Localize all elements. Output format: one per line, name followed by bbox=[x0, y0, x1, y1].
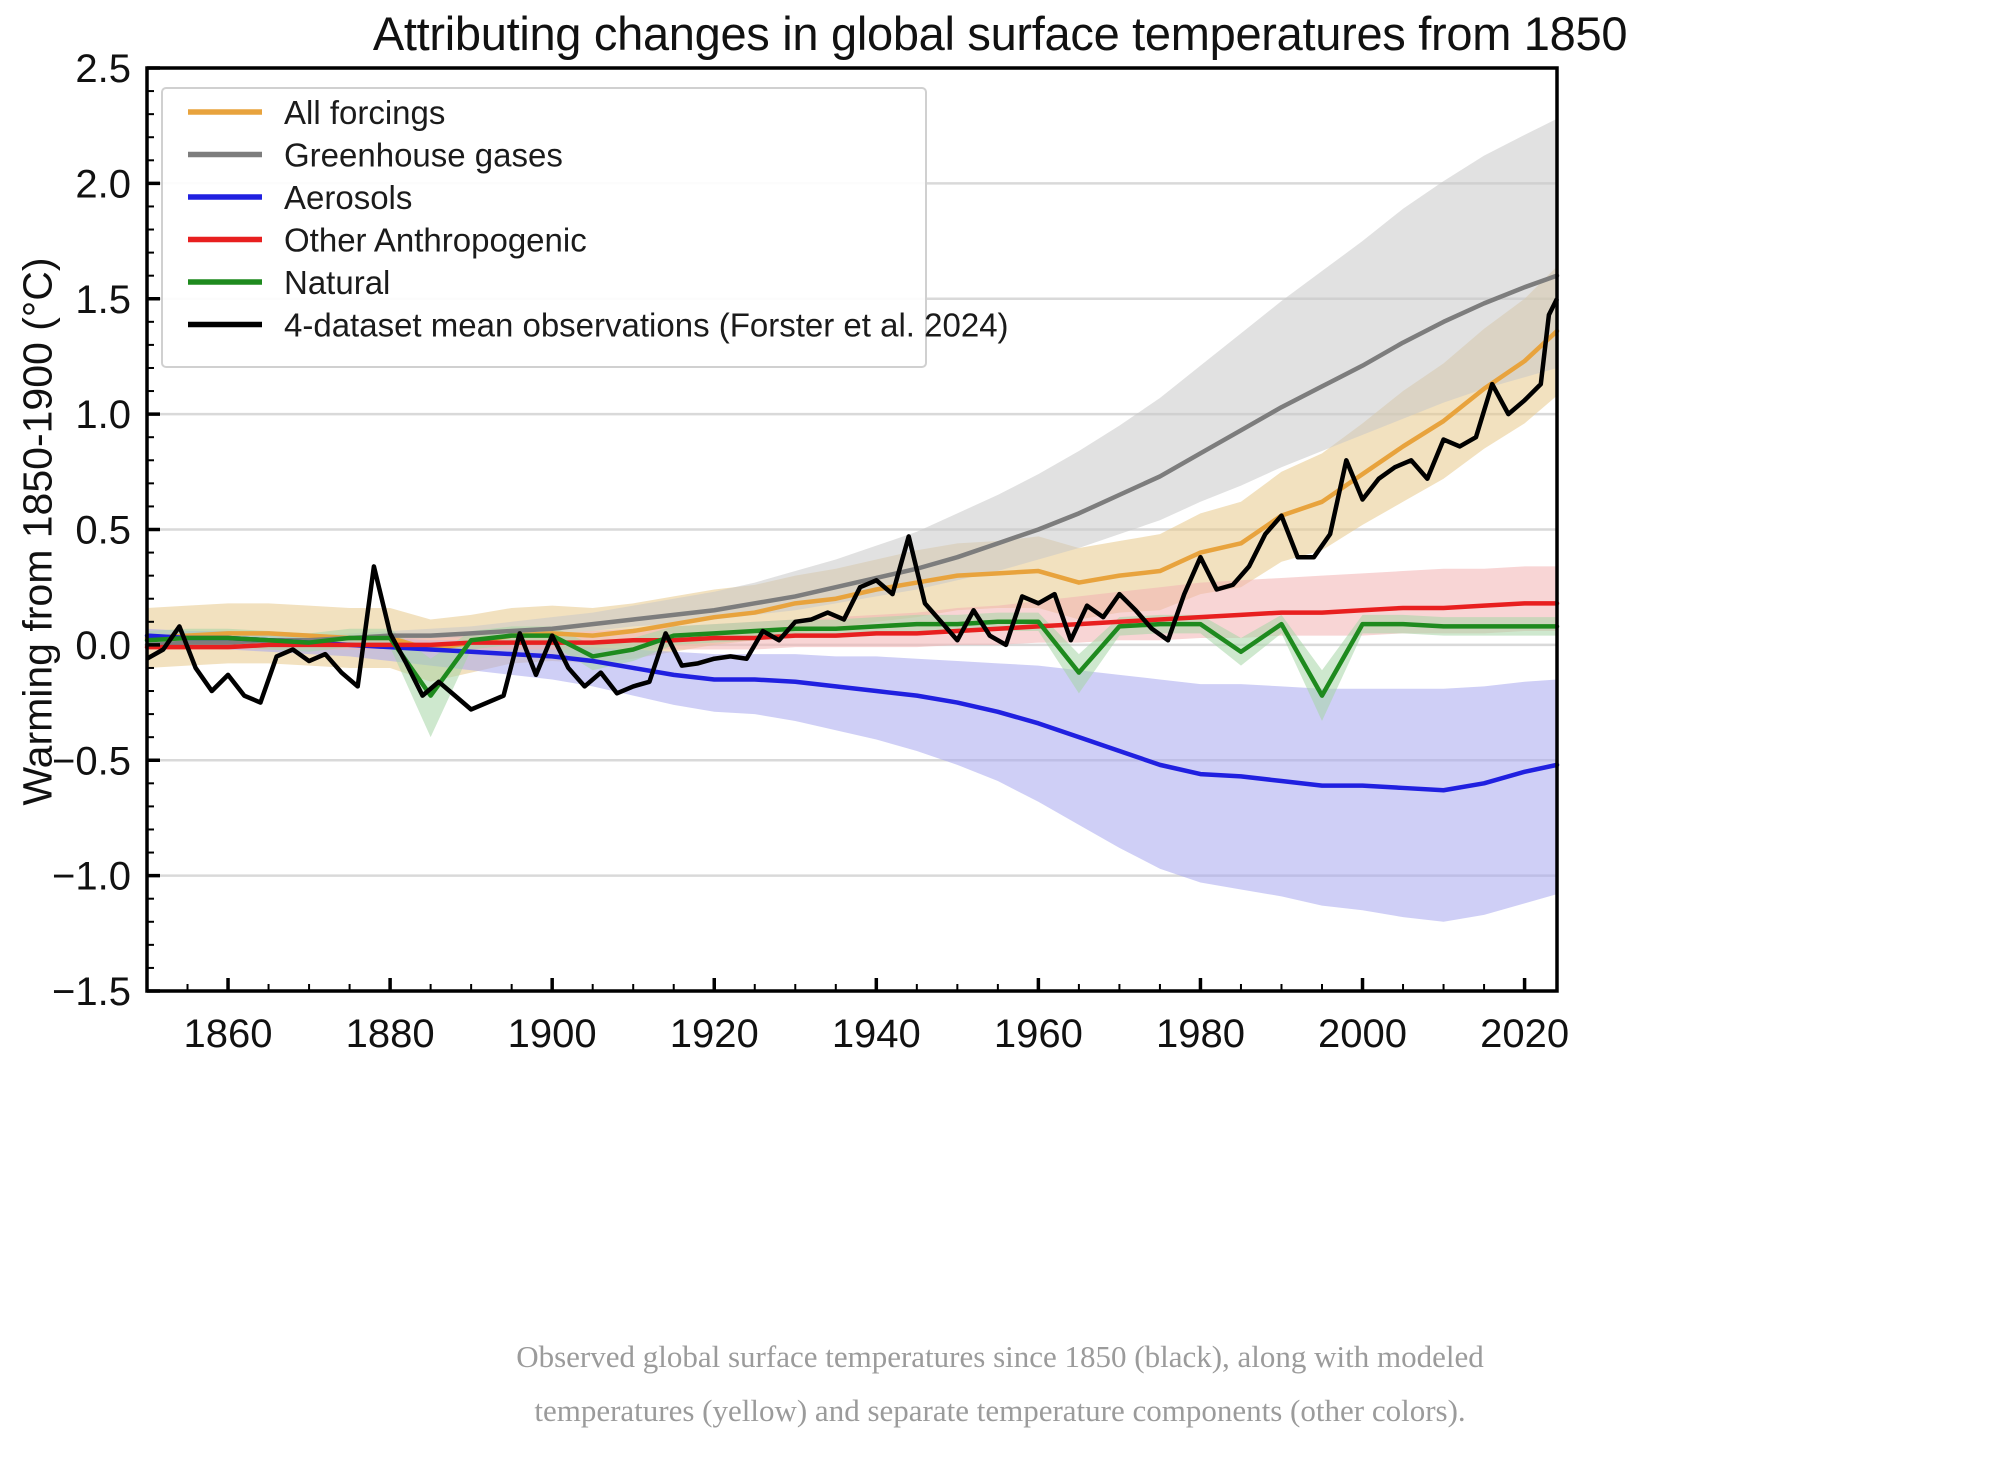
x-tick-label: 1960 bbox=[994, 1012, 1083, 1056]
legend-label: Other Anthropogenic bbox=[284, 222, 587, 259]
y-tick-label: 0.5 bbox=[75, 509, 131, 553]
x-tick-label: 1920 bbox=[670, 1012, 759, 1056]
y-tick-label: 2.5 bbox=[75, 47, 131, 91]
plot-area: −1.5−1.0−0.50.00.51.01.52.02.5 186018801… bbox=[0, 0, 2000, 1477]
x-tick-label: 1940 bbox=[832, 1012, 921, 1056]
x-tick-label: 2000 bbox=[1318, 1012, 1407, 1056]
y-tick-label: 1.0 bbox=[75, 393, 131, 437]
y-axis-ticks: −1.5−1.0−0.50.00.51.01.52.02.5 bbox=[52, 47, 131, 1014]
legend-label: 4-dataset mean observations (Forster et … bbox=[284, 307, 1009, 344]
legend-label: Natural bbox=[284, 264, 390, 301]
x-tick-label: 1980 bbox=[1156, 1012, 1245, 1056]
y-tick-label: 0.0 bbox=[75, 624, 131, 668]
x-tick-label: 1880 bbox=[346, 1012, 435, 1056]
x-axis-ticks: 186018801900192019401960198020002020 bbox=[184, 1012, 1570, 1056]
caption-line-1: Observed global surface temperatures sin… bbox=[0, 1330, 2000, 1384]
figure-caption: Observed global surface temperatures sin… bbox=[0, 1330, 2000, 1439]
figure-container: Attributing changes in global surface te… bbox=[0, 0, 2000, 1477]
x-tick-label: 1900 bbox=[508, 1012, 597, 1056]
legend-label: Aerosols bbox=[284, 179, 412, 216]
legend-label: Greenhouse gases bbox=[284, 137, 563, 174]
y-tick-label: −1.5 bbox=[52, 970, 131, 1014]
x-tick-label: 1860 bbox=[184, 1012, 273, 1056]
x-tick-label: 2020 bbox=[1480, 1012, 1569, 1056]
y-tick-label: 1.5 bbox=[75, 278, 131, 322]
legend: All forcingsGreenhouse gasesAerosolsOthe… bbox=[162, 88, 1009, 367]
legend-label: All forcings bbox=[284, 94, 445, 131]
caption-line-2: temperatures (yellow) and separate tempe… bbox=[0, 1384, 2000, 1438]
y-tick-label: 2.0 bbox=[75, 162, 131, 206]
y-tick-label: −1.0 bbox=[52, 855, 131, 899]
y-tick-label: −0.5 bbox=[52, 739, 131, 783]
